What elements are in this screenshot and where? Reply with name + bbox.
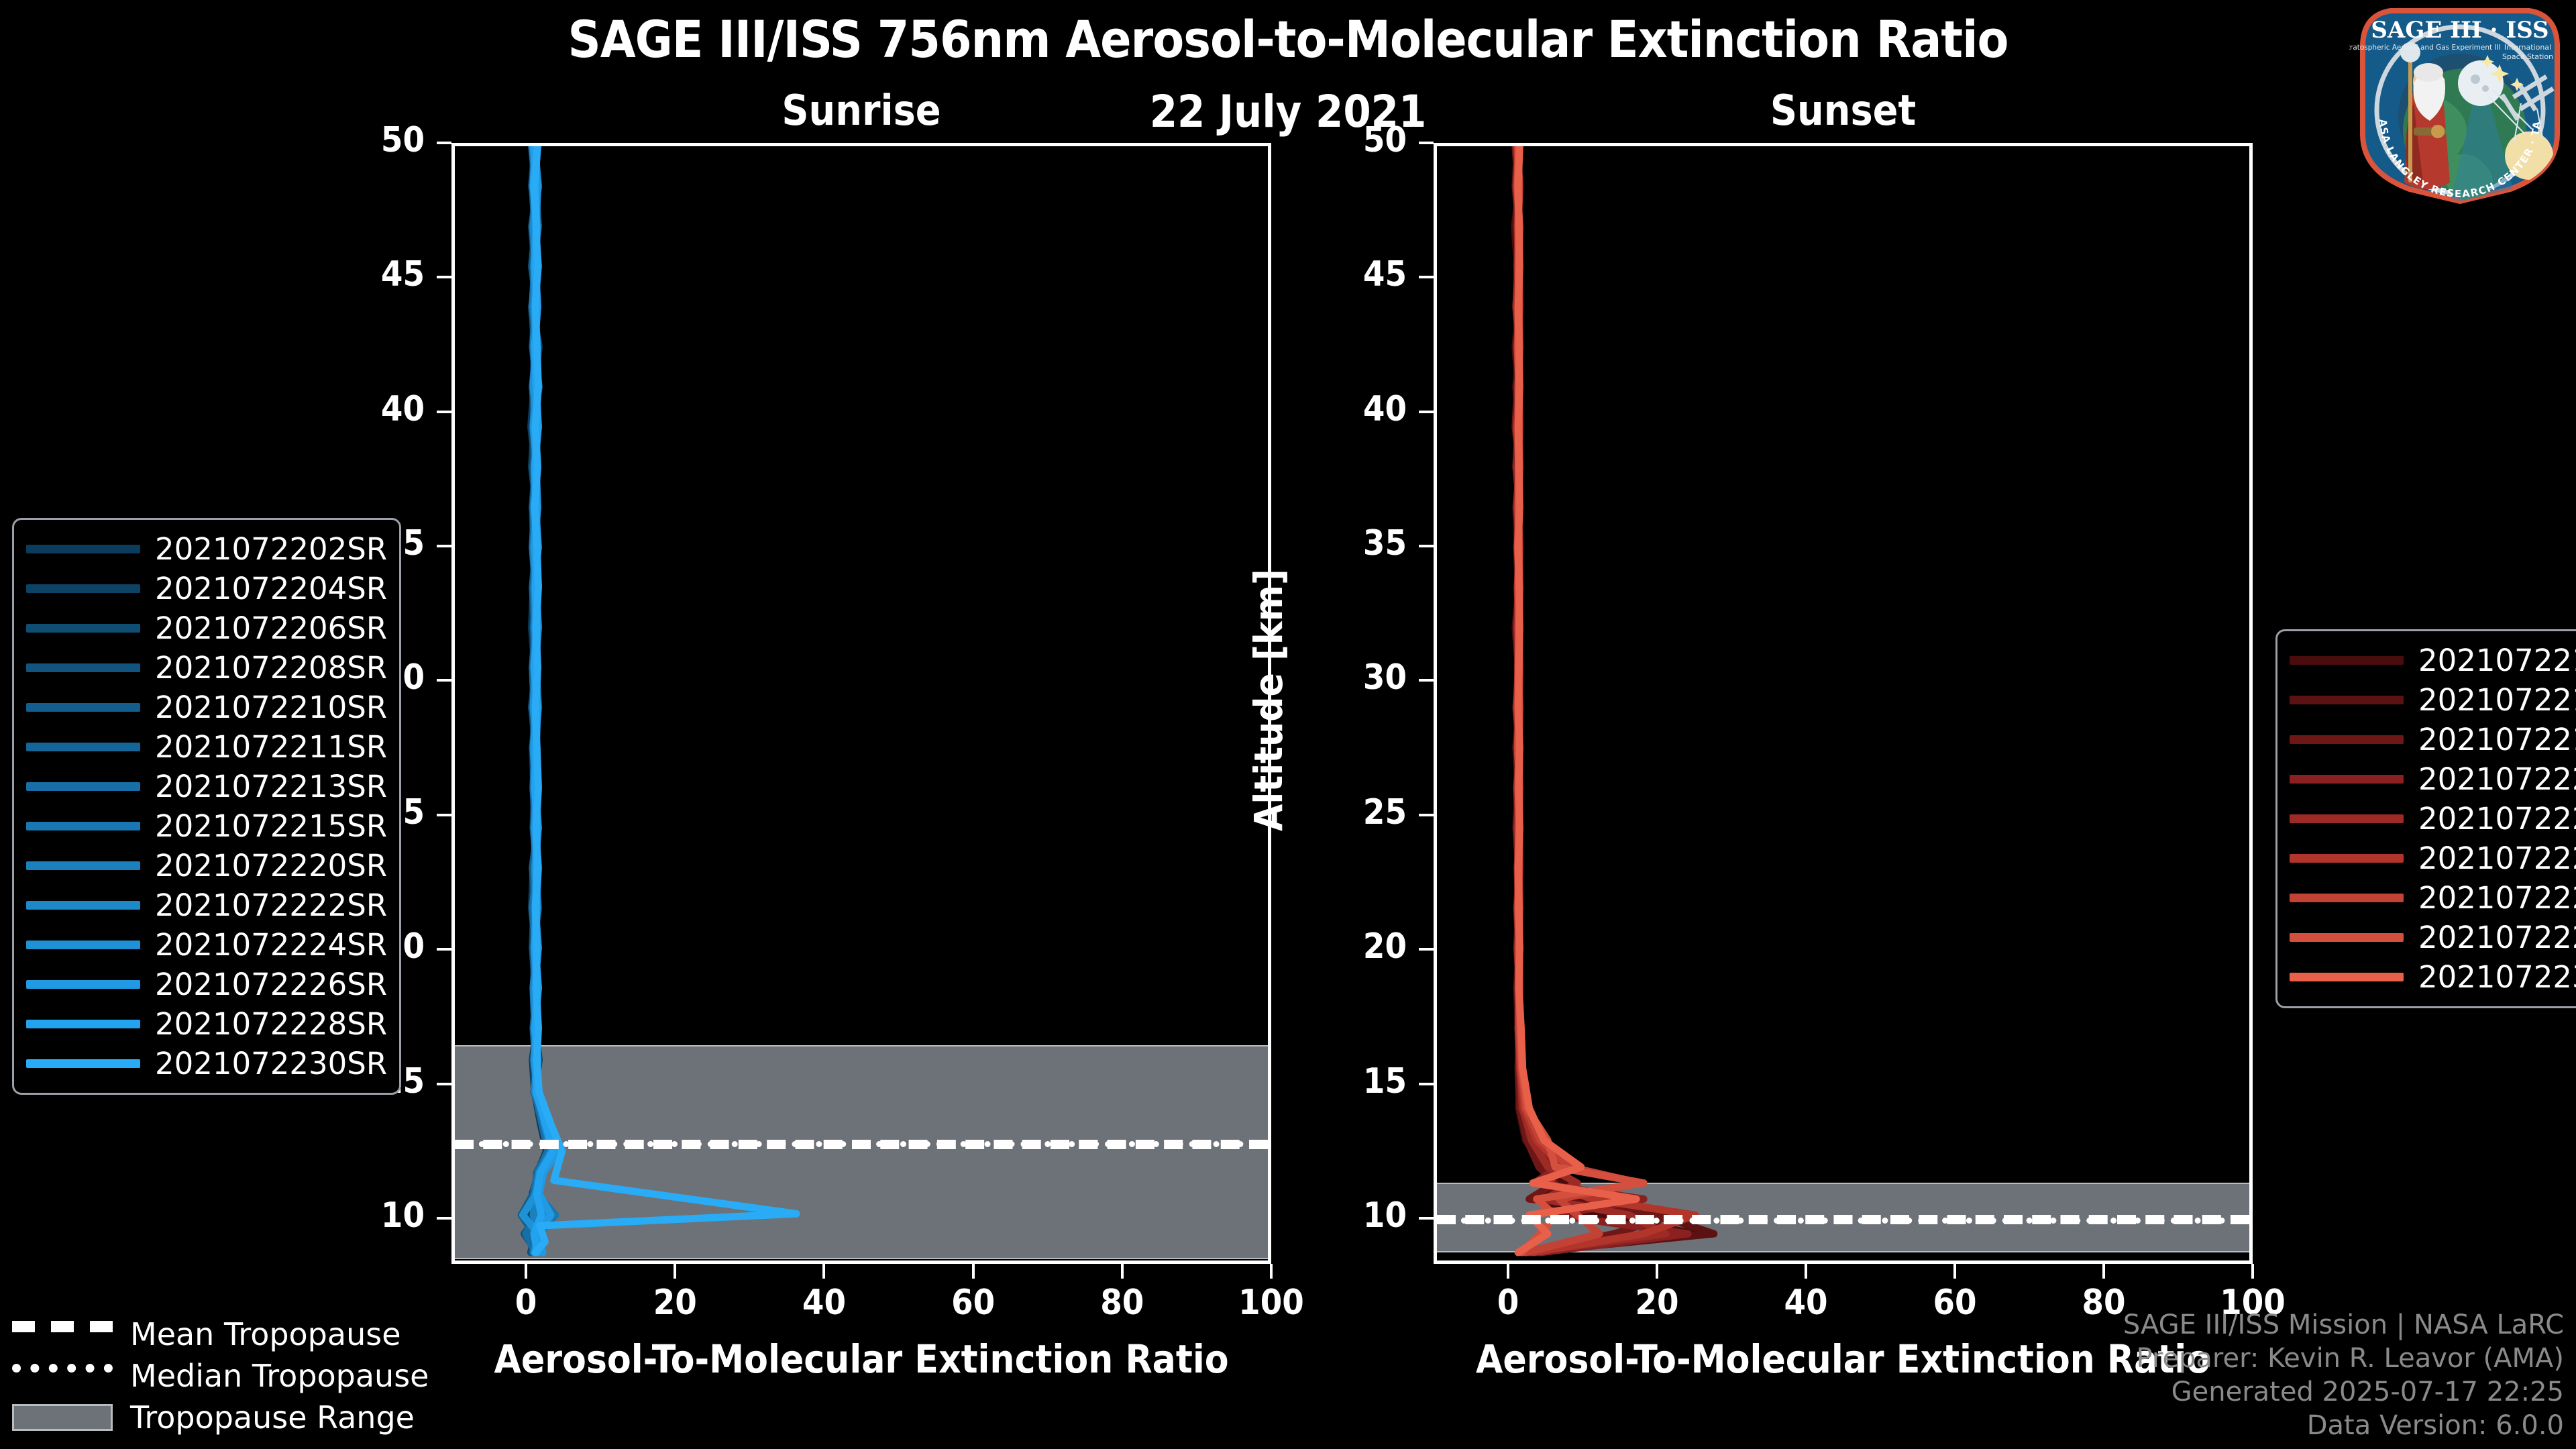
legend-item-label: 2021072225SS xyxy=(2418,841,2576,876)
y-tick-mark xyxy=(1419,142,1434,144)
legend-sunrise-item[interactable]: 2021072230SR xyxy=(26,1044,387,1083)
legend-item-label: 2021072227SS xyxy=(2418,880,2576,916)
x-tick-mark xyxy=(1953,1264,1956,1279)
series-line xyxy=(535,146,796,1252)
y-tick-label: 30 xyxy=(1286,657,1407,698)
legend-color-swatch xyxy=(26,1059,140,1068)
legend-item-label: 2021072223SS xyxy=(2418,801,2576,837)
sunrise-plot-area[interactable] xyxy=(451,143,1271,1264)
legend-color-swatch xyxy=(26,703,140,712)
x-tick-label: 20 xyxy=(608,1283,742,1323)
legend-sunrise-item[interactable]: 2021072226SR xyxy=(26,965,387,1004)
y-tick-label: 20 xyxy=(1286,926,1407,967)
legend-item-label: 2021072229SS xyxy=(2418,920,2576,955)
x-tick-mark xyxy=(972,1264,975,1279)
panel-title-sunset: Sunset xyxy=(1434,86,2253,135)
x-tick-label: 60 xyxy=(1888,1283,2022,1323)
legend-sunrise-item[interactable]: 2021072228SR xyxy=(26,1004,387,1044)
y-tick-label: 45 xyxy=(304,254,425,294)
tropopause-legend-item[interactable]: Mean Tropopause xyxy=(12,1313,429,1355)
y-tick-label: 15 xyxy=(1286,1061,1407,1102)
tropopause-legend-swatch-dashed xyxy=(12,1321,113,1348)
legend-color-swatch xyxy=(2290,814,2404,823)
y-tick-label: 35 xyxy=(1286,523,1407,563)
legend-item-label: 2021072214SS xyxy=(2418,682,2576,718)
legend-sunset-item[interactable]: 2021072223SS xyxy=(2290,799,2576,839)
credits-line: Preparer: Kevin R. Leavor (AMA) xyxy=(2123,1342,2564,1375)
y-tick-mark xyxy=(437,948,451,951)
legend-sunset-item[interactable]: 2021072214SS xyxy=(2290,680,2576,720)
credits-line: SAGE III/ISS Mission | NASA LaRC xyxy=(2123,1308,2564,1342)
patch-subtitle-left: Stratospheric Aerosol and Gas Experiment… xyxy=(2349,44,2501,52)
legend-item-label: 2021072230SR xyxy=(155,1046,387,1081)
y-tick-mark xyxy=(437,545,451,547)
legend-item-label: 2021072220SR xyxy=(155,848,387,883)
credits-line: Generated 2025-07-17 22:25 xyxy=(2123,1375,2564,1409)
legend-color-swatch xyxy=(26,663,140,672)
legend-sunrise[interactable]: 2021072202SR2021072204SR2021072206SR2021… xyxy=(12,518,401,1095)
legend-color-swatch xyxy=(26,743,140,751)
y-tick-mark xyxy=(437,411,451,413)
x-tick-label: 80 xyxy=(1055,1283,1189,1323)
legend-color-swatch xyxy=(2290,973,2404,981)
series-line xyxy=(1515,146,1674,1252)
x-tick-mark xyxy=(2102,1264,2105,1279)
legend-color-swatch xyxy=(26,980,140,989)
y-tick-mark xyxy=(437,814,451,816)
y-tick-label: 40 xyxy=(304,389,425,429)
y-tick-mark xyxy=(437,679,451,682)
legend-item-label: 2021072216SS xyxy=(2418,722,2576,757)
series-line xyxy=(1518,146,1636,1252)
legend-sunrise-item[interactable]: 2021072211SR xyxy=(26,727,387,767)
y-tick-mark xyxy=(437,1083,451,1085)
x-tick-label: 20 xyxy=(1590,1283,1724,1323)
y-tick-mark xyxy=(437,142,451,144)
legend-item-label: 2021072211SR xyxy=(155,729,387,765)
legend-item-label: 2021072222SR xyxy=(155,888,387,923)
legend-item-label: 2021072208SR xyxy=(155,650,387,686)
tropopause-legend-swatch-box xyxy=(12,1404,113,1431)
legend-sunrise-item[interactable]: 2021072220SR xyxy=(26,846,387,885)
series-layer xyxy=(455,146,1268,1260)
legend-item-label: 2021072202SR xyxy=(155,531,387,567)
tropopause-legend-item[interactable]: Median Tropopause xyxy=(12,1355,429,1397)
x-tick-label: 0 xyxy=(459,1283,593,1323)
y-tick-mark xyxy=(437,276,451,278)
x-tick-label: 0 xyxy=(1441,1283,1575,1323)
legend-color-swatch xyxy=(26,941,140,949)
legend-tropopause[interactable]: Mean TropopauseMedian TropopauseTropopau… xyxy=(12,1313,429,1438)
series-line xyxy=(1517,146,1640,1252)
x-tick-mark xyxy=(2251,1264,2254,1279)
legend-color-swatch xyxy=(26,584,140,593)
tropopause-legend-label: Mean Tropopause xyxy=(130,1316,401,1352)
legend-sunrise-item[interactable]: 2021072224SR xyxy=(26,925,387,965)
legend-color-swatch xyxy=(2290,775,2404,784)
legend-sunrise-item[interactable]: 2021072210SR xyxy=(26,688,387,727)
legend-sunset-item[interactable]: 2021072221SS xyxy=(2290,759,2576,799)
series-layer xyxy=(1437,146,2249,1260)
y-tick-mark xyxy=(437,1217,451,1220)
legend-color-swatch xyxy=(26,545,140,553)
y-tick-label: 40 xyxy=(1286,389,1407,429)
tropopause-legend-label: Median Tropopause xyxy=(130,1358,429,1394)
legend-sunrise-item[interactable]: 2021072213SR xyxy=(26,767,387,806)
y-tick-mark xyxy=(1419,679,1434,682)
legend-sunrise-item[interactable]: 2021072204SR xyxy=(26,569,387,608)
sage-iii-iss-mission-patch: SAGE III · ISS Stratospheric Aerosol and… xyxy=(2349,3,2571,204)
series-line xyxy=(1515,146,1714,1252)
legend-sunset-item[interactable]: 2021072227SS xyxy=(2290,878,2576,918)
x-tick-mark xyxy=(1121,1264,1124,1279)
legend-color-swatch xyxy=(2290,735,2404,744)
series-line xyxy=(1517,146,1644,1252)
x-tick-label: 60 xyxy=(906,1283,1040,1323)
legend-item-label: 2021072210SR xyxy=(155,690,387,725)
legend-item-label: 2021072215SR xyxy=(155,808,387,844)
legend-item-label: 2021072224SR xyxy=(155,927,387,963)
tropopause-legend-swatch-dotted xyxy=(12,1364,113,1389)
y-tick-label: 10 xyxy=(304,1195,425,1236)
patch-subtitle-right-2: Space Station xyxy=(2502,52,2553,61)
legend-sunset-item[interactable]: 2021072231SS xyxy=(2290,957,2576,997)
sunset-plot-area[interactable] xyxy=(1434,143,2253,1264)
series-line xyxy=(1515,146,1696,1252)
mean-tropopause-line xyxy=(455,1140,1268,1149)
y-tick-mark xyxy=(1419,1217,1434,1220)
y-tick-mark xyxy=(1419,411,1434,413)
series-line xyxy=(1516,146,1666,1252)
legend-sunrise-item[interactable]: 2021072208SR xyxy=(26,648,387,688)
legend-color-swatch xyxy=(26,901,140,910)
legend-sunrise-item[interactable]: 2021072222SR xyxy=(26,885,387,925)
x-tick-mark xyxy=(1507,1264,1509,1279)
y-tick-mark xyxy=(1419,276,1434,278)
legend-color-swatch xyxy=(2290,656,2404,665)
patch-subtitle-right-1: International xyxy=(2504,43,2551,52)
y-tick-mark xyxy=(1419,814,1434,816)
x-tick-label: 40 xyxy=(757,1283,891,1323)
tropopause-legend-label: Tropopause Range xyxy=(130,1399,415,1436)
legend-color-swatch xyxy=(26,1020,140,1028)
y-tick-mark xyxy=(1419,545,1434,547)
y-tick-label: 45 xyxy=(1286,254,1407,294)
x-tick-mark xyxy=(822,1264,825,1279)
x-tick-mark xyxy=(1805,1264,1807,1279)
x-tick-mark xyxy=(674,1264,676,1279)
y-tick-label: 10 xyxy=(1286,1195,1407,1236)
legend-color-swatch xyxy=(26,822,140,830)
legend-sunset-item[interactable]: 2021072212SS xyxy=(2290,641,2576,680)
credits-line: Data Version: 6.0.0 xyxy=(2123,1409,2564,1442)
legend-item-label: 2021072212SS xyxy=(2418,643,2576,678)
x-tick-mark xyxy=(1656,1264,1658,1279)
legend-sunrise-item[interactable]: 2021072206SR xyxy=(26,608,387,648)
tropopause-legend-item[interactable]: Tropopause Range xyxy=(12,1397,429,1438)
panel-title-sunrise: Sunrise xyxy=(451,86,1271,135)
y-tick-mark xyxy=(1419,1083,1434,1085)
legend-item-label: 2021072228SR xyxy=(155,1006,387,1042)
legend-color-swatch xyxy=(26,624,140,633)
x-axis-title: Aerosol-To-Molecular Extinction Ratio xyxy=(451,1336,1271,1382)
legend-color-swatch xyxy=(26,782,140,791)
legend-color-swatch xyxy=(26,861,140,870)
legend-sunset-item[interactable]: 2021072216SS xyxy=(2290,720,2576,759)
x-tick-mark xyxy=(525,1264,527,1279)
legend-item-label: 2021072231SS xyxy=(2418,959,2576,995)
legend-sunset-item[interactable]: 2021072225SS xyxy=(2290,839,2576,878)
mean-tropopause-line xyxy=(1437,1215,2249,1224)
y-tick-label: 25 xyxy=(1286,792,1407,833)
legend-item-label: 2021072206SR xyxy=(155,610,387,646)
legend-sunrise-item[interactable]: 2021072215SR xyxy=(26,806,387,846)
legend-item-label: 2021072221SS xyxy=(2418,761,2576,797)
page-title: SAGE III/ISS 756nm Aerosol-to-Molecular … xyxy=(0,9,2576,69)
y-tick-mark xyxy=(1419,948,1434,951)
legend-sunset[interactable]: 2021072212SS2021072214SS2021072216SS2021… xyxy=(2275,629,2576,1008)
legend-color-swatch xyxy=(2290,696,2404,704)
legend-color-swatch xyxy=(2290,854,2404,863)
x-tick-mark xyxy=(1270,1264,1273,1279)
patch-title: SAGE III · ISS xyxy=(2371,17,2548,44)
legend-sunrise-item[interactable]: 2021072202SR xyxy=(26,529,387,569)
legend-item-label: 2021072204SR xyxy=(155,571,387,606)
legend-color-swatch xyxy=(2290,894,2404,902)
credits-block: SAGE III/ISS Mission | NASA LaRCPreparer… xyxy=(2123,1308,2564,1442)
legend-item-label: 2021072213SR xyxy=(155,769,387,804)
legend-color-swatch xyxy=(2290,933,2404,942)
legend-sunset-item[interactable]: 2021072229SS xyxy=(2290,918,2576,957)
series-line xyxy=(1516,146,1688,1252)
x-tick-label: 100 xyxy=(1204,1283,1338,1323)
series-line xyxy=(1517,146,1695,1252)
legend-item-label: 2021072226SR xyxy=(155,967,387,1002)
x-tick-label: 40 xyxy=(1739,1283,1873,1323)
